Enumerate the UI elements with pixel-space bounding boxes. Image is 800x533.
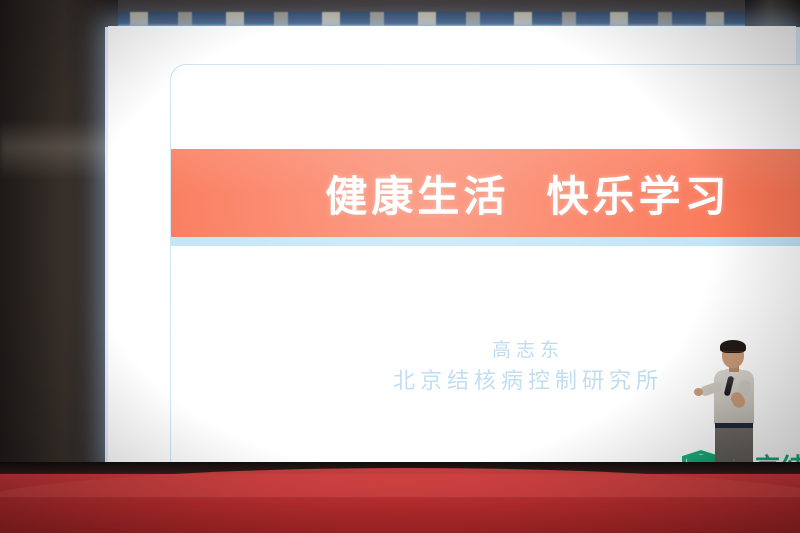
slide-title: 健康生活 快乐学习 — [171, 149, 800, 237]
stage-front-face — [0, 497, 800, 533]
wall-light-reflection — [0, 120, 118, 180]
ceiling-decorative-band — [0, 12, 800, 26]
projection-screen: 健康生活 快乐学习 高志东 北京结核病控制研究所 B 北京结核病防治 BEIJI… — [108, 26, 796, 468]
speaker-belt — [715, 423, 753, 428]
conference-photo-scene: 健康生活 快乐学习 高志东 北京结核病控制研究所 B 北京结核病防治 BEIJI… — [0, 0, 800, 533]
speaker-hand-left — [694, 388, 703, 396]
slide-title-underline — [171, 237, 800, 246]
glasses-icon — [722, 351, 744, 355]
left-wall — [0, 0, 118, 533]
